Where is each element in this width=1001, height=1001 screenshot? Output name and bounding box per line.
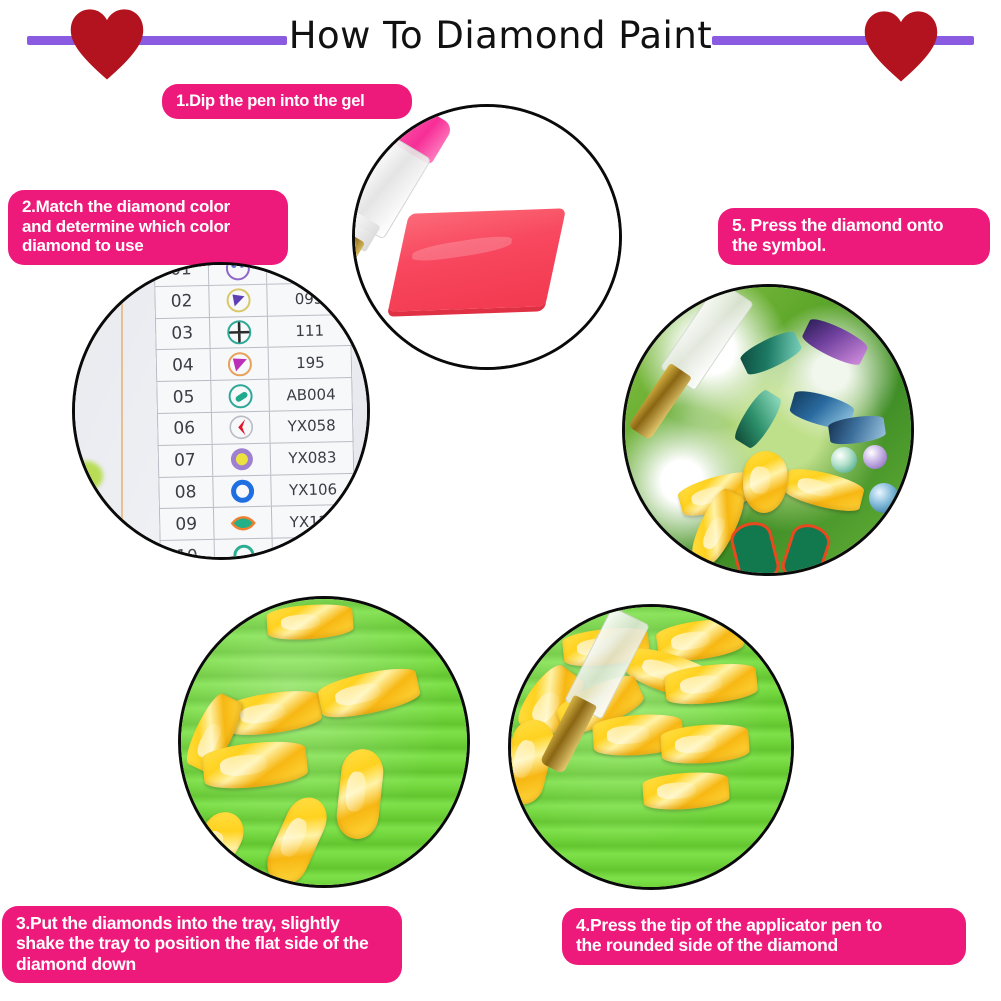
diagonal-capsule-icon (211, 380, 270, 412)
table-row: 05 AB004 (156, 378, 353, 414)
step-5-label: 5. Press the diamond onto the symbol. (718, 208, 990, 265)
chart-code-cell: 195 (269, 346, 353, 379)
table-row: 06 YX058 (157, 410, 354, 446)
triangle-flag-icon (209, 285, 268, 317)
table-row: 08YX106 (158, 474, 355, 510)
step-2-label: 2.Match the diamond color and determine … (8, 190, 288, 265)
step-1-photo (352, 104, 622, 370)
chart-number-cell: 01 (154, 262, 210, 286)
table-row: 01 028 (154, 262, 351, 287)
canvas-smudge (72, 461, 103, 491)
step-5-photo (622, 284, 914, 576)
step-3-line-2: shake the tray to position the flat side… (16, 933, 388, 953)
step-4-photo (508, 604, 794, 890)
plus-cross-icon (210, 316, 269, 348)
sheet-guide-line (121, 265, 123, 557)
chart-number-cell: 09 (159, 508, 215, 540)
leaf-eye-icon (214, 507, 273, 539)
chart-code-cell: 093 (267, 283, 351, 316)
filled-dot-ring-icon (213, 443, 272, 475)
placed-gem (800, 314, 871, 369)
step-4-line-2: the rounded side of the diamond (576, 935, 952, 955)
pen-tip (628, 363, 692, 441)
chart-number-cell: 07 (158, 445, 214, 477)
chart-code-cell: YX083 (271, 442, 355, 475)
table-row: 07YX083 (158, 442, 355, 478)
step-2-line-1: 2.Match the diamond color (22, 197, 274, 217)
step-2-photo: 01 02802 09303 11104 19505 AB00406 YX058… (72, 262, 370, 560)
chart-number-cell: 08 (158, 476, 214, 508)
table-row: 04 195 (156, 346, 353, 382)
canvas-smudge (81, 527, 103, 547)
gel-pad (388, 208, 566, 311)
chart-code-cell: 111 (268, 315, 352, 348)
step-4-label: 4.Press the tip of the applicator pen to… (562, 908, 966, 965)
chart-code-cell: 028 (267, 262, 351, 284)
yellow-gem (782, 464, 866, 516)
step-4-line-1: 4.Press the tip of the applicator pen to (576, 915, 952, 935)
step-3-line-3: diamond down (16, 954, 388, 974)
placed-gem (869, 483, 899, 513)
table-body: 01 02802 09303 11104 19505 AB00406 YX058… (154, 262, 357, 560)
step-3-photo (178, 596, 470, 888)
chart-code-cell: YX058 (270, 410, 354, 443)
canvas-with-symbols (625, 287, 911, 573)
placed-gem (831, 447, 857, 473)
step-3-label: 3.Put the diamonds into the tray, slight… (2, 906, 402, 983)
chart-code-cell: AB004 (269, 378, 353, 411)
double-dot-circle-icon (209, 262, 268, 285)
teal-ring-icon (215, 539, 274, 560)
leaf-symbol (781, 523, 830, 576)
table-row: 03 111 (155, 315, 352, 351)
step-5-line-2: the symbol. (732, 235, 976, 255)
magenta-triangle-icon (211, 348, 270, 380)
step-2-line-3: diamond to use (22, 236, 274, 256)
step-3-line-1: 3.Put the diamonds into the tray, slight… (16, 913, 388, 933)
open-ring-icon (213, 475, 272, 507)
chart-number-cell: 06 (157, 413, 213, 445)
chart-number-cell: 05 (156, 381, 212, 413)
table-row: 02 093 (154, 283, 351, 319)
placed-gem (738, 327, 804, 378)
chart-code-cell: YX106 (271, 474, 355, 507)
color-symbol-table: 01 02802 09303 11104 19505 AB00406 YX058… (154, 262, 357, 560)
placed-gem (863, 445, 887, 469)
page-title: How To Diamond Paint (0, 10, 1001, 62)
chart-number-cell: 04 (156, 349, 212, 381)
left-chevron-icon (212, 412, 271, 444)
chart-code-cell: YX125 (272, 505, 356, 538)
placed-gem (731, 387, 785, 451)
yellow-gem-being-placed (741, 450, 789, 515)
chart-number-cell: 02 (154, 286, 210, 318)
step-5-line-1: 5. Press the diamond onto (732, 215, 976, 235)
leaf-symbol (731, 521, 779, 576)
chart-number-cell: 03 (155, 318, 211, 350)
infographic-canvas: How To Diamond Paint 1.Dip the pen into … (0, 0, 1001, 1001)
table-row: 10 (160, 537, 357, 560)
header: How To Diamond Paint (0, 0, 1001, 78)
table-row: 09YX125 (159, 505, 356, 541)
step-2-line-2: and determine which color (22, 217, 274, 237)
chart-code-cell (273, 537, 357, 560)
chart-number-cell: 10 (160, 540, 216, 560)
